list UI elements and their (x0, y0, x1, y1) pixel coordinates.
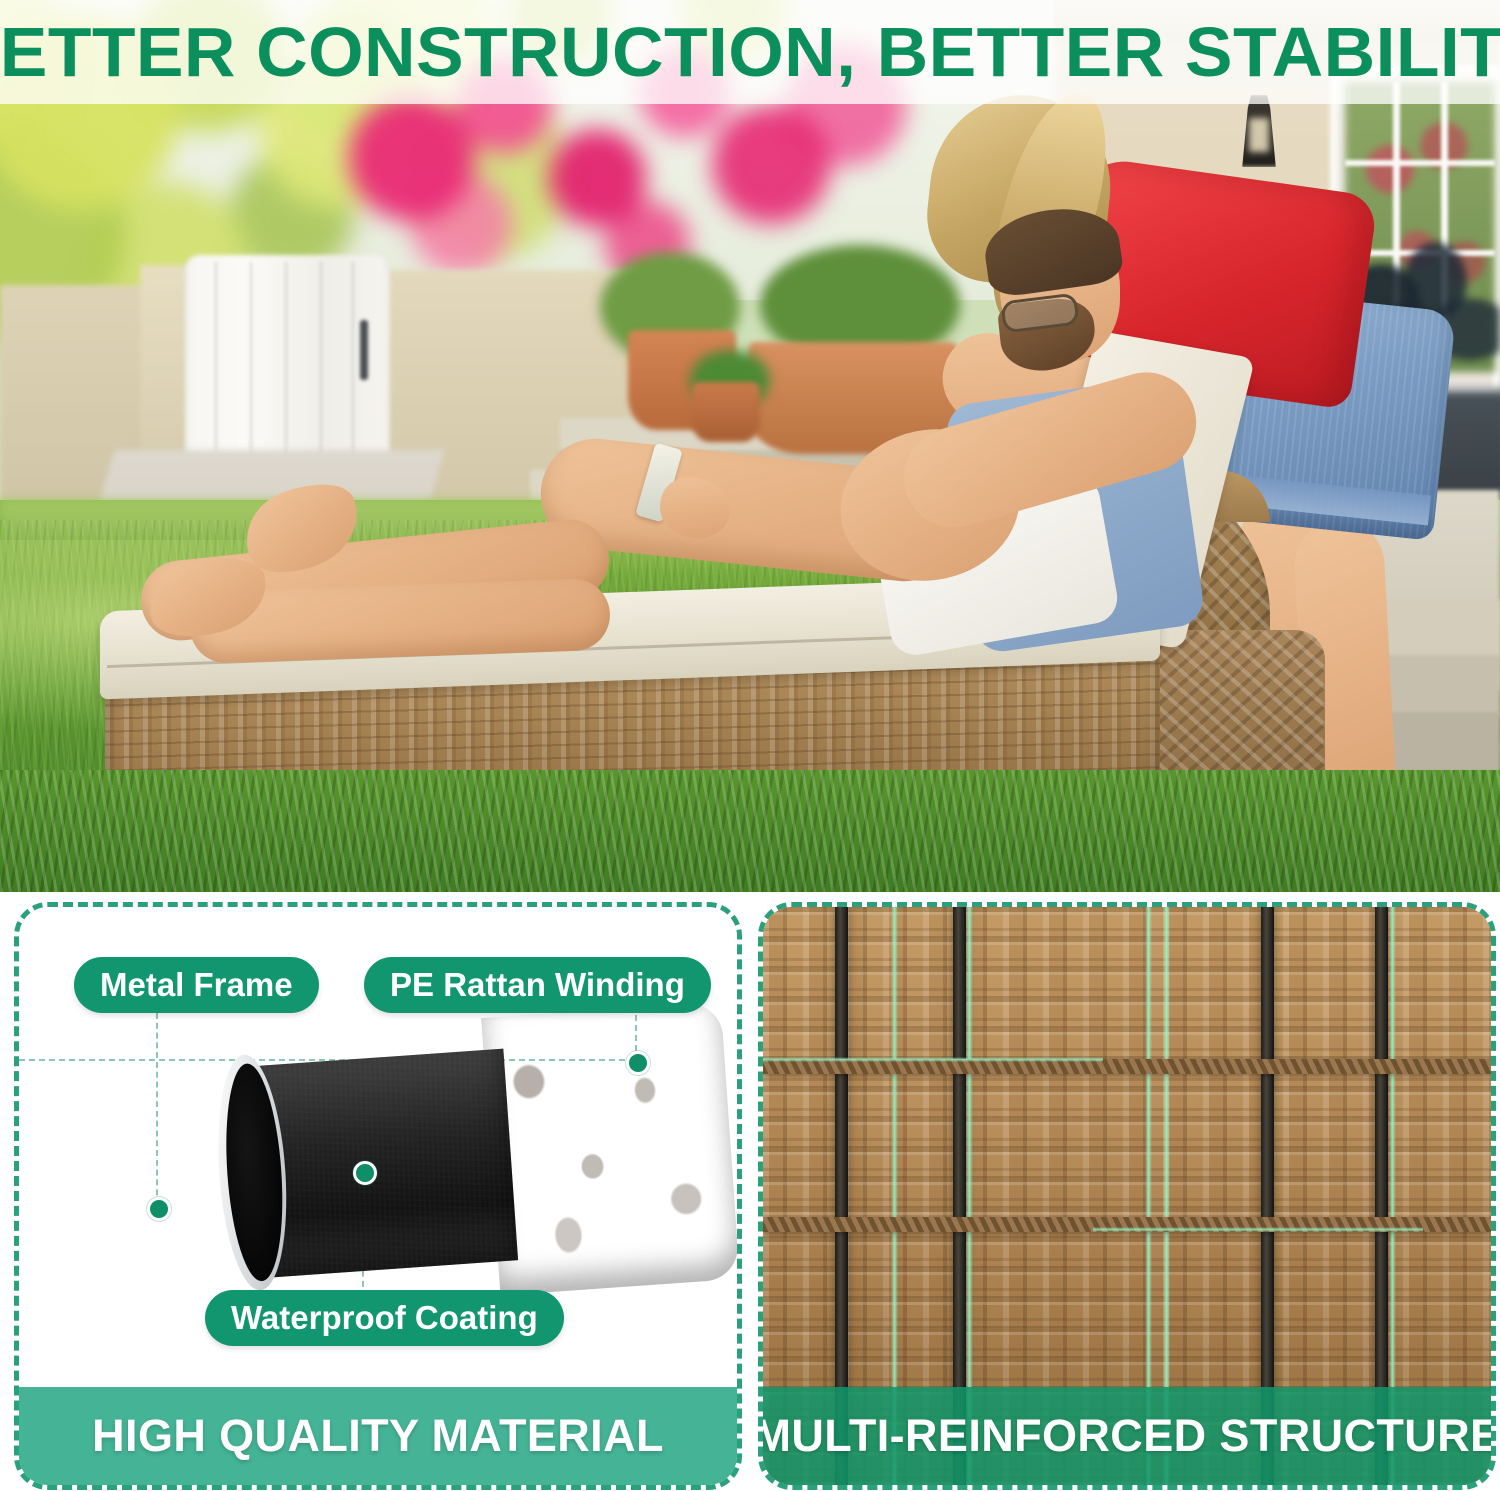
highlight-glow (1093, 1227, 1423, 1232)
callout-label: Waterproof Coating (231, 1299, 538, 1337)
callout-badge-waterproof-coating[interactable]: Waterproof Coating (205, 1290, 564, 1346)
callout-label: PE Rattan Winding (390, 966, 685, 1004)
callout-dot-waterproof (353, 1161, 377, 1185)
panel-multi-reinforced-structure: MULTI-REINFORCED STRUCTURE (758, 902, 1496, 1490)
callout-dot-metal-frame (147, 1197, 171, 1221)
panel-caption-high-quality-material: HIGH QUALITY MATERIAL (19, 1387, 737, 1485)
lawn-foreground (0, 770, 1500, 892)
lantern-glow (1249, 118, 1269, 152)
rattan-texture (481, 1001, 740, 1295)
callout-label: Metal Frame (100, 966, 293, 1004)
callout-dot-pe-rattan (626, 1051, 650, 1075)
leader-line-metal-frame (156, 1013, 158, 1205)
caption-text: MULTI-REINFORCED STRUCTURE (758, 1410, 1496, 1462)
page-title: BETTER CONSTRUCTION, BETTER STABILITY (0, 4, 1500, 100)
feature-panels: Metal Frame PE Rattan Winding Waterproof… (0, 892, 1500, 1491)
metal-pipe-illustration (210, 998, 739, 1323)
highlight-glow (763, 1057, 1103, 1062)
panel-high-quality-material: Metal Frame PE Rattan Winding Waterproof… (14, 902, 742, 1490)
hero-image: BETTER CONSTRUCTION, BETTER STABILITY (0, 0, 1500, 892)
caption-text: HIGH QUALITY MATERIAL (92, 1410, 664, 1462)
callout-badge-pe-rattan[interactable]: PE Rattan Winding (364, 957, 711, 1013)
panel-caption-multi-reinforced-structure: MULTI-REINFORCED STRUCTURE (763, 1387, 1491, 1485)
door-mullion (1345, 160, 1495, 166)
callout-badge-metal-frame[interactable]: Metal Frame (74, 957, 319, 1013)
